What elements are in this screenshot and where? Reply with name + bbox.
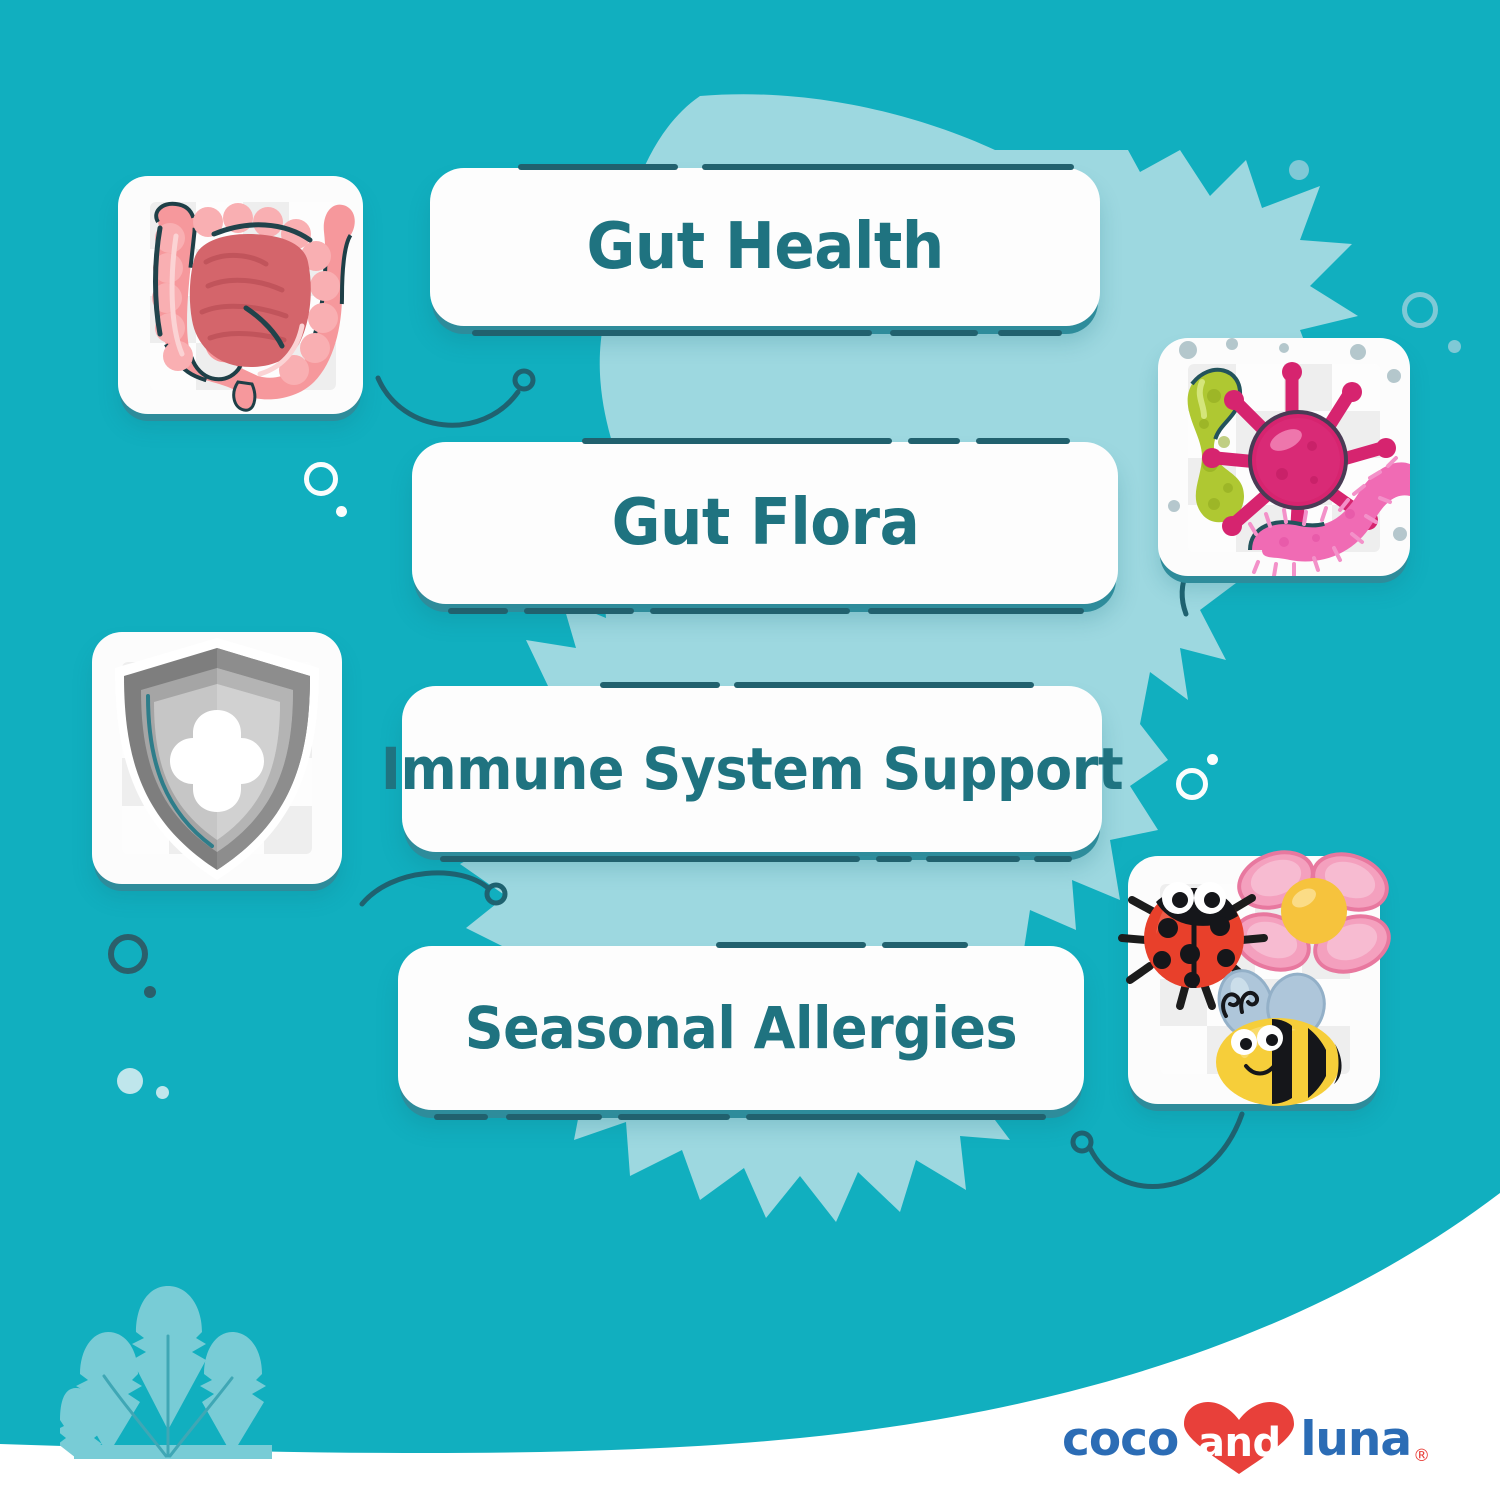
benefit-card-gut-health[interactable]: Gut Health (430, 168, 1100, 326)
card-bottom-outline (430, 856, 1074, 862)
logo-word-and: and (1198, 1420, 1281, 1466)
registered-trademark-symbol: ® (1413, 1446, 1430, 1466)
brand-logo[interactable]: coco and luna ® (1062, 1404, 1432, 1474)
card-surface[interactable]: Gut Health (430, 168, 1100, 326)
benefit-card-immune-support[interactable]: Immune System Support (402, 686, 1102, 852)
benefit-label: Seasonal Allergies (465, 994, 1017, 1062)
card-top-outline (426, 942, 1056, 948)
benefit-label: Gut Health (586, 210, 943, 284)
benefit-label: Immune System Support (381, 735, 1123, 803)
card-surface[interactable]: Gut Flora (412, 442, 1118, 604)
benefit-card-seasonal-allergies[interactable]: Seasonal Allergies (398, 946, 1084, 1110)
logo-word-coco: coco (1062, 1412, 1178, 1467)
logo-heart-group: and (1180, 1404, 1298, 1474)
card-surface[interactable]: Seasonal Allergies (398, 946, 1084, 1110)
logo-word-luna: luna (1300, 1412, 1411, 1467)
infographic-canvas: Gut Health Gut Flora (0, 0, 1500, 1493)
card-top-outline (458, 164, 1072, 170)
card-bottom-outline (458, 330, 1072, 336)
benefit-label: Gut Flora (611, 486, 919, 560)
card-bottom-outline (440, 608, 1090, 614)
benefit-card-gut-flora[interactable]: Gut Flora (412, 442, 1118, 604)
card-top-outline (430, 682, 1074, 688)
benefit-card-list: Gut Health Gut Flora (0, 0, 1500, 1493)
card-bottom-outline (426, 1114, 1056, 1120)
card-surface[interactable]: Immune System Support (402, 686, 1102, 852)
card-top-outline (440, 438, 1090, 444)
